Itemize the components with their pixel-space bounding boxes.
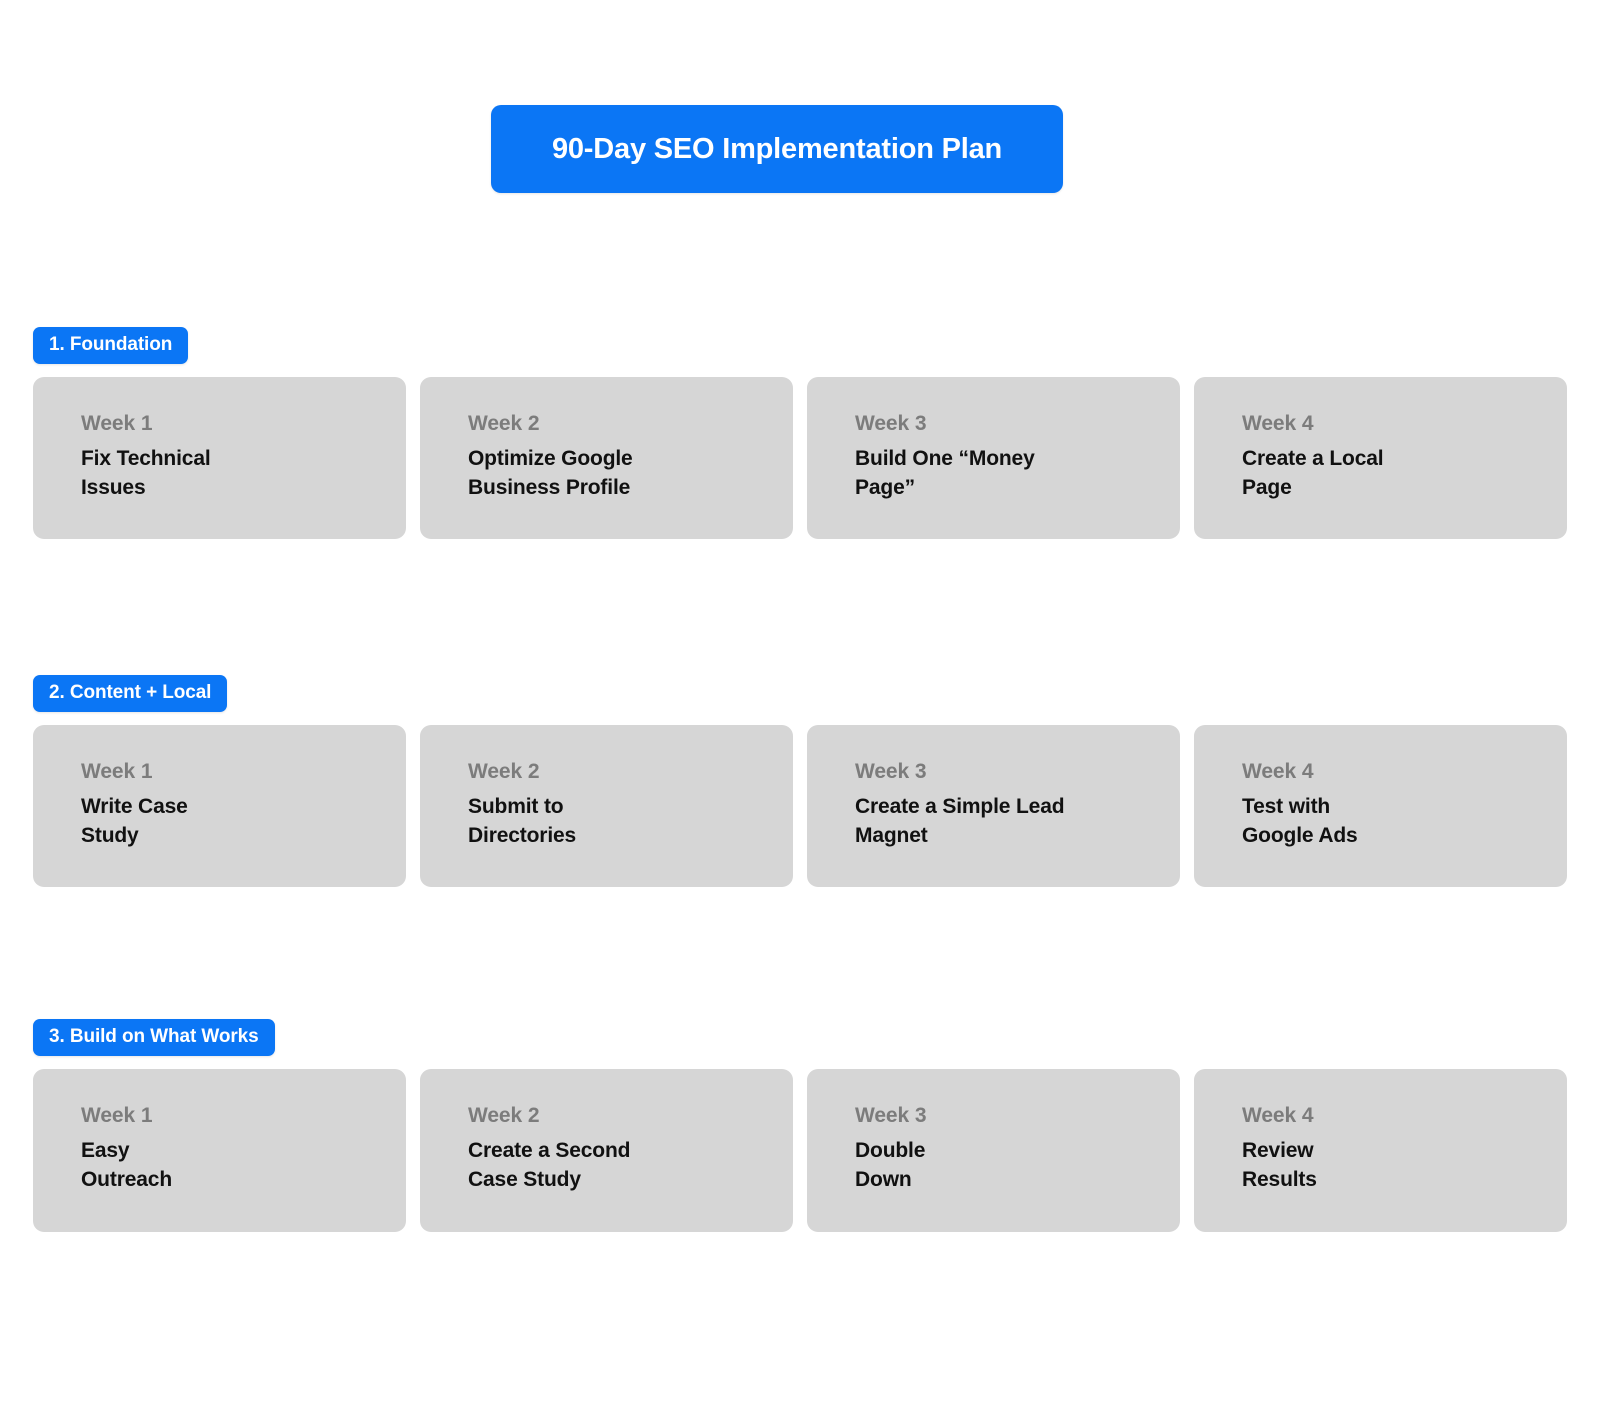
- week-card[interactable]: Week 3 Build One “Money Page”: [807, 377, 1180, 539]
- week-card[interactable]: Week 4 Review Results: [1194, 1069, 1567, 1232]
- week-card[interactable]: Week 1 Write Case Study: [33, 725, 406, 887]
- week-card[interactable]: Week 3 Create a Simple Lead Magnet: [807, 725, 1180, 887]
- week-label: Week 1: [81, 1105, 406, 1126]
- week-task: Double Down: [855, 1137, 1180, 1195]
- section-build-on-what-works: 3. Build on What Works Week 1 Easy Outre…: [33, 1019, 1567, 1232]
- week-task: Review Results: [1242, 1137, 1567, 1195]
- week-task: Easy Outreach: [81, 1137, 406, 1195]
- week-card[interactable]: Week 4 Test with Google Ads: [1194, 725, 1567, 887]
- section-header-2: 2. Content + Local: [33, 675, 227, 712]
- week-cards-row-2: Week 1 Write Case Study Week 2 Submit to…: [33, 725, 1567, 887]
- week-label: Week 3: [855, 761, 1180, 782]
- week-card[interactable]: Week 1 Fix Technical Issues: [33, 377, 406, 539]
- week-cards-row-1: Week 1 Fix Technical Issues Week 2 Optim…: [33, 377, 1567, 539]
- week-label: Week 4: [1242, 761, 1567, 782]
- week-task: Optimize Google Business Profile: [468, 445, 793, 503]
- week-task: Create a Local Page: [1242, 445, 1567, 503]
- week-cards-row-3: Week 1 Easy Outreach Week 2 Create a Sec…: [33, 1069, 1567, 1232]
- plan-title-banner: 90-Day SEO Implementation Plan: [491, 105, 1063, 193]
- week-card[interactable]: Week 1 Easy Outreach: [33, 1069, 406, 1232]
- week-card[interactable]: Week 2 Optimize Google Business Profile: [420, 377, 793, 539]
- week-label: Week 4: [1242, 413, 1567, 434]
- section-content-local: 2. Content + Local Week 1 Write Case Stu…: [33, 675, 1567, 887]
- week-label: Week 2: [468, 761, 793, 782]
- page-title: 90-Day SEO Implementation Plan: [552, 133, 1002, 166]
- week-card[interactable]: Week 2 Submit to Directories: [420, 725, 793, 887]
- week-card[interactable]: Week 2 Create a Second Case Study: [420, 1069, 793, 1232]
- week-label: Week 2: [468, 413, 793, 434]
- week-label: Week 1: [81, 761, 406, 782]
- week-label: Week 3: [855, 1105, 1180, 1126]
- week-label: Week 2: [468, 1105, 793, 1126]
- week-task: Create a Second Case Study: [468, 1137, 793, 1195]
- week-card[interactable]: Week 4 Create a Local Page: [1194, 377, 1567, 539]
- week-label: Week 1: [81, 413, 406, 434]
- week-task: Submit to Directories: [468, 793, 793, 851]
- week-task: Fix Technical Issues: [81, 445, 406, 503]
- week-task: Test with Google Ads: [1242, 793, 1567, 851]
- section-header-3: 3. Build on What Works: [33, 1019, 275, 1056]
- week-task: Create a Simple Lead Magnet: [855, 793, 1180, 851]
- section-header-1: 1. Foundation: [33, 327, 188, 364]
- week-card[interactable]: Week 3 Double Down: [807, 1069, 1180, 1232]
- week-label: Week 3: [855, 413, 1180, 434]
- week-task: Write Case Study: [81, 793, 406, 851]
- section-foundation: 1. Foundation Week 1 Fix Technical Issue…: [33, 327, 1567, 539]
- week-task: Build One “Money Page”: [855, 445, 1180, 503]
- plan-canvas: 90-Day SEO Implementation Plan 1. Founda…: [0, 0, 1600, 1404]
- week-label: Week 4: [1242, 1105, 1567, 1126]
